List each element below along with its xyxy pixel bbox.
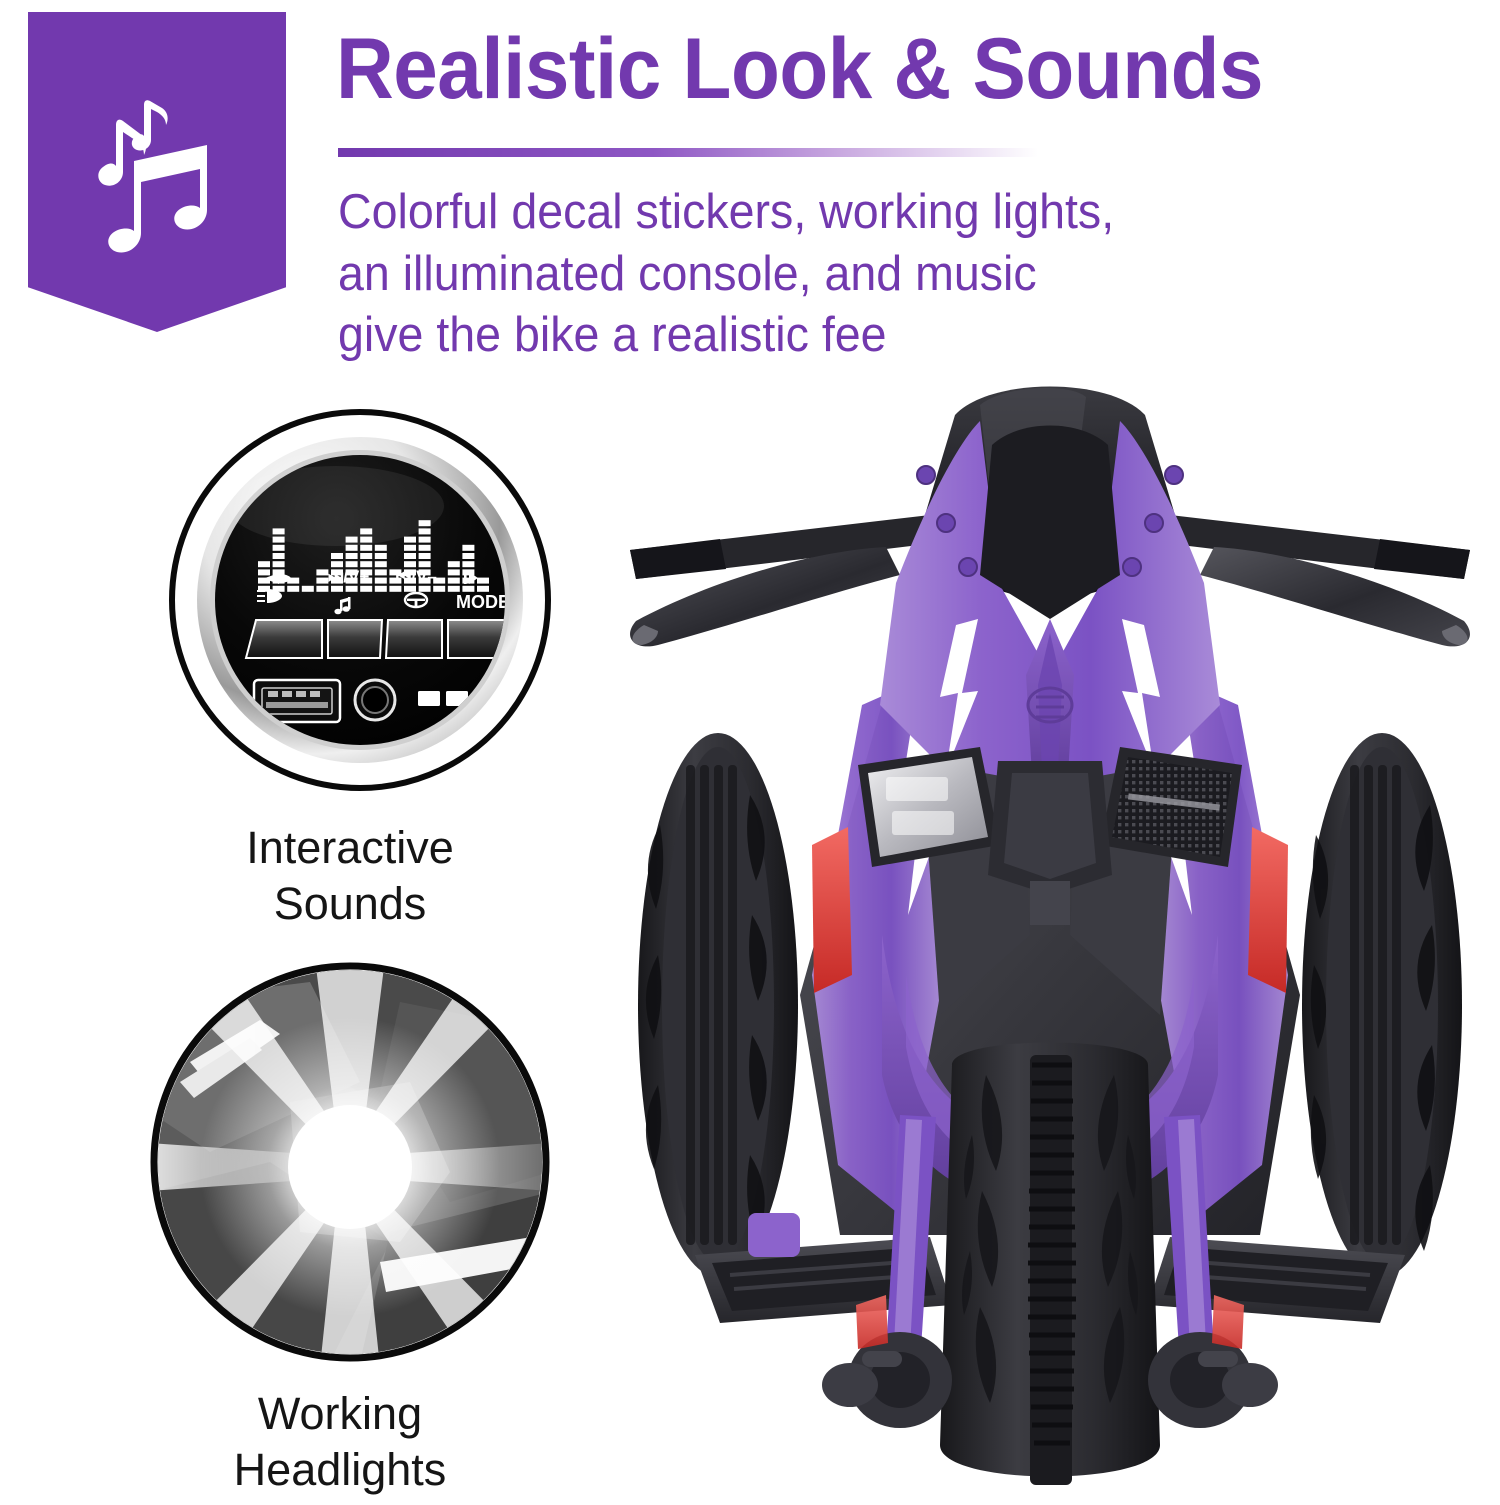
working-headlights-inset <box>150 962 550 1362</box>
equalizer-segment <box>346 553 358 559</box>
equalizer-segment <box>302 586 314 592</box>
page-subtitle: Colorful decal stickers, working lights,… <box>338 182 1117 367</box>
equalizer-segment <box>419 520 431 526</box>
equalizer-segment <box>375 569 387 575</box>
equalizer-segment <box>419 528 431 534</box>
headlight-closeup-image <box>150 962 550 1362</box>
caption-interactive-sounds: Interactive Sounds <box>130 820 570 932</box>
equalizer-segment <box>360 528 372 534</box>
equalizer-segment <box>258 561 270 567</box>
equalizer-segment <box>419 537 431 543</box>
button-label-next-volume-up: ⏭/V+ <box>328 567 369 586</box>
reflector-right <box>1248 827 1288 993</box>
equalizer-segment <box>316 586 328 592</box>
equalizer-segment <box>404 537 416 543</box>
equalizer-segment <box>375 545 387 551</box>
console-closeup-image: ⏭/V+ ⏮/V– <box>168 408 552 792</box>
equalizer-segment <box>462 553 474 559</box>
equalizer-segment <box>448 578 460 584</box>
console-button-next-volup[interactable] <box>328 620 382 658</box>
header-section: Realistic Look & Sounds Colorful decal s… <box>0 0 1500 390</box>
console-button-prev-voldown[interactable] <box>386 620 442 658</box>
equalizer-segment <box>273 528 285 534</box>
equalizer-segment <box>448 561 460 567</box>
aux-jack <box>355 680 395 720</box>
page-title: Realistic Look & Sounds <box>336 26 1378 112</box>
nose-fairing <box>880 421 1220 795</box>
caption-line-2: Headlights <box>120 1442 560 1498</box>
equalizer-segment <box>360 586 372 592</box>
caption-line-2: Sounds <box>130 876 570 932</box>
equalizer-segment <box>346 586 358 592</box>
equalizer-segment <box>477 586 489 592</box>
equalizer-segment <box>404 586 416 592</box>
music-notes-icon <box>82 93 232 263</box>
equalizer-segment <box>273 545 285 551</box>
caption-line-1: Working <box>120 1386 560 1442</box>
equalizer-segment <box>273 537 285 543</box>
motorcycle-front-view <box>600 375 1500 1500</box>
equalizer-segment <box>433 586 445 592</box>
equalizer-segment <box>360 545 372 551</box>
console-button-horn-light[interactable] <box>246 620 322 658</box>
equalizer-segment <box>346 545 358 551</box>
button-label-prev-volume-down: ⏮/V– <box>396 567 437 586</box>
equalizer-segment <box>404 553 416 559</box>
equalizer-segment <box>273 561 285 567</box>
equalizer-segment <box>316 569 328 575</box>
equalizer-segment <box>448 586 460 592</box>
title-divider <box>338 148 1038 157</box>
training-wheel-left <box>638 733 798 1277</box>
music-notes-badge <box>28 12 286 332</box>
interactive-sounds-inset: ⏭/V+ ⏮/V– <box>168 408 552 792</box>
equalizer-segment <box>273 553 285 559</box>
equalizer-segment <box>375 578 387 584</box>
equalizer-segment <box>389 586 401 592</box>
equalizer-segment <box>258 569 270 575</box>
training-wheel-right <box>1302 733 1462 1277</box>
equalizer-segment <box>375 586 387 592</box>
equalizer-segment <box>419 553 431 559</box>
equalizer-segment <box>462 561 474 567</box>
equalizer-segment <box>462 586 474 592</box>
equalizer-segment <box>316 578 328 584</box>
front-wheel <box>940 1043 1160 1486</box>
axle-hub-right <box>1148 1332 1278 1428</box>
equalizer-segment <box>346 537 358 543</box>
equalizer-segment <box>287 586 299 592</box>
equalizer-segment <box>477 578 489 584</box>
reflector-left <box>812 827 852 993</box>
equalizer-segment <box>331 586 343 592</box>
equalizer-segment <box>404 545 416 551</box>
equalizer-segment <box>419 545 431 551</box>
caption-line-1: Interactive <box>130 820 570 876</box>
equalizer-segment <box>360 553 372 559</box>
equalizer-segment <box>375 553 387 559</box>
caption-working-headlights: Working Headlights <box>120 1386 560 1498</box>
equalizer-segment <box>448 569 460 575</box>
equalizer-segment <box>360 537 372 543</box>
equalizer-segment <box>331 553 343 559</box>
button-label-mode: MODE <box>456 592 510 612</box>
equalizer-segment <box>375 561 387 567</box>
axle-hub-left <box>822 1332 952 1428</box>
equalizer-segment <box>419 586 431 592</box>
product-image-motorcycle <box>600 375 1500 1500</box>
equalizer-segment <box>462 545 474 551</box>
